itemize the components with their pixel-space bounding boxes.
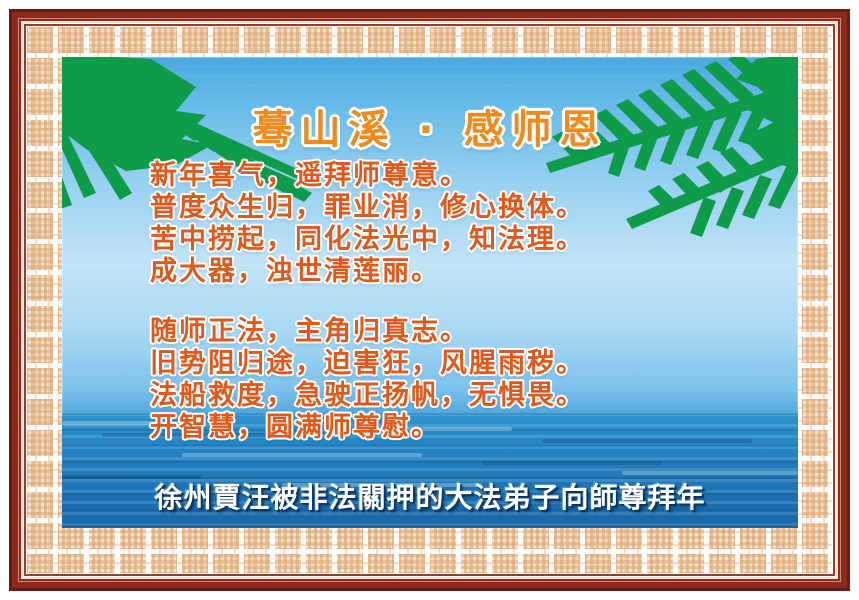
poem-body: 新年喜气，遥拜师尊意。 普度众生归，罪业消，修心换体。 苦中捞起，同化法光中，知… <box>150 160 730 444</box>
poem-line: 新年喜气，遥拜师尊意。 <box>150 160 730 192</box>
artwork-canvas: 蓦山溪 · 感师恩 新年喜气，遥拜师尊意。 普度众生归，罪业消，修心换体。 苦中… <box>62 57 798 528</box>
poem-line: 成大器，浊世清莲丽。 <box>150 256 730 288</box>
banner-text: 徐州賈汪被非法關押的大法弟子向師尊拜年 <box>154 476 705 516</box>
poem-line: 随师正法，主角归真志。 <box>150 316 730 348</box>
stanza-separator <box>150 288 730 316</box>
poem-line: 开智慧，圆满师尊慰。 <box>150 412 730 444</box>
poem-line: 普度众生归，罪业消，修心换体。 <box>150 192 730 224</box>
poem-line: 旧势阻归途，迫害狂，风腥雨秽。 <box>150 348 730 380</box>
poem-line: 法船救度，急驶正扬帆，无惧畏。 <box>150 380 730 412</box>
banner: 徐州賈汪被非法關押的大法弟子向師尊拜年 <box>62 476 798 516</box>
poem-line: 苦中捞起，同化法光中，知法理。 <box>150 224 730 256</box>
greeting-poster: 蓦山溪 · 感师恩 新年喜气，遥拜师尊意。 普度众生归，罪业消，修心换体。 苦中… <box>0 0 859 600</box>
poem-title: 蓦山溪 · 感师恩 <box>62 97 798 155</box>
